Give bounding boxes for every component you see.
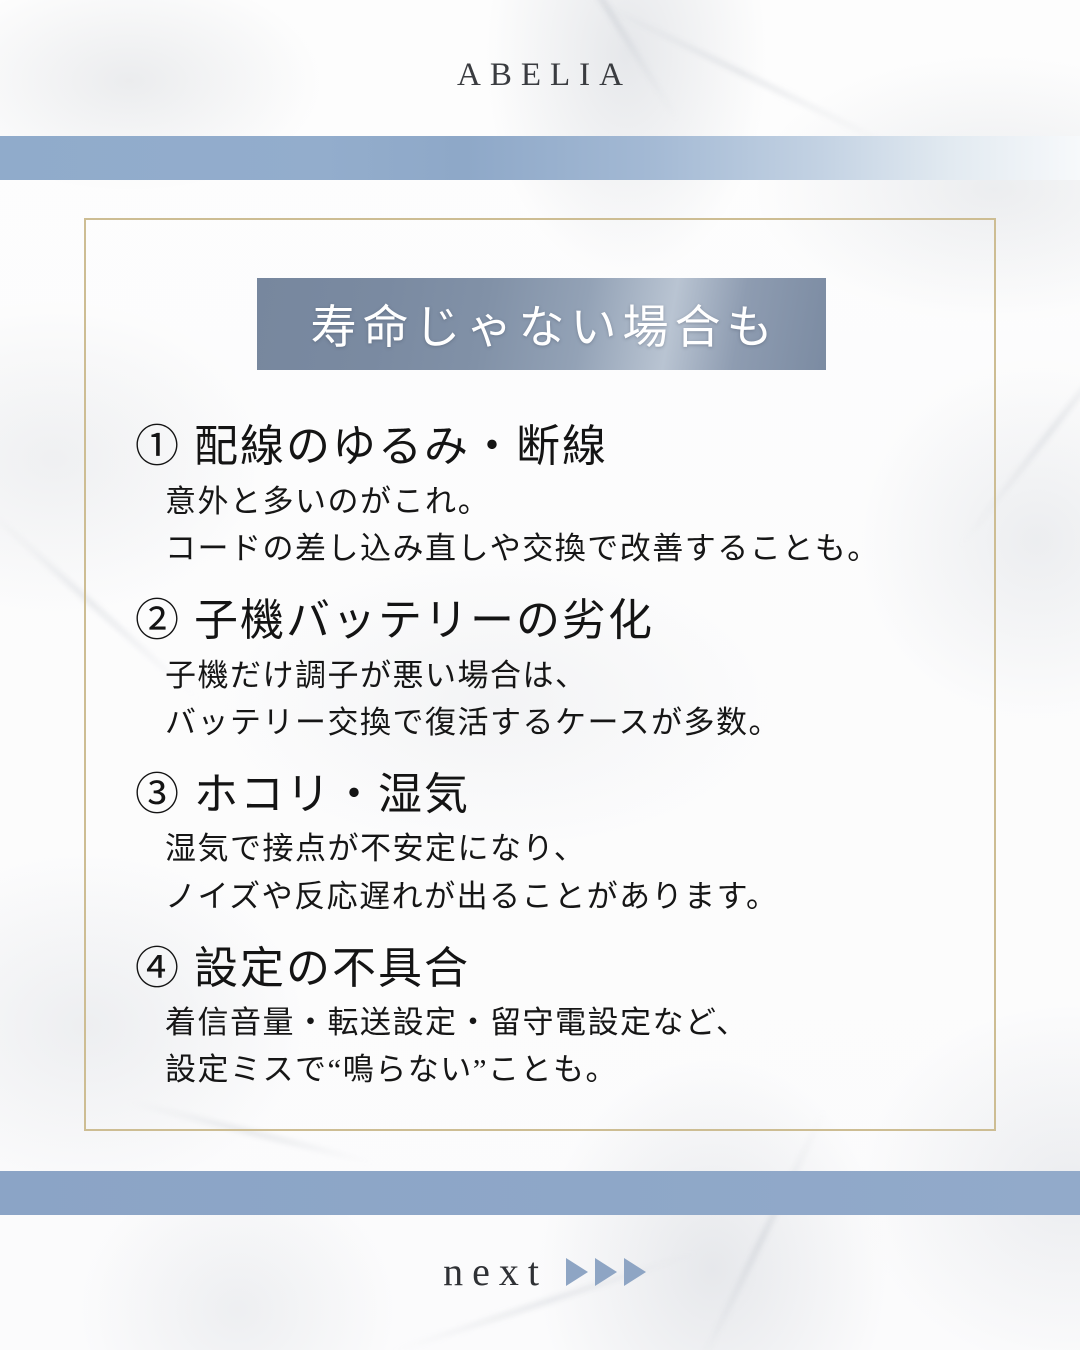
list-item-heading: ④ 設定の不具合 [135, 942, 935, 996]
next-label: next [434, 1248, 548, 1295]
list-item: ④ 設定の不具合 着信音量・転送設定・留守電設定など、 設定ミスで“鳴らない”こ… [135, 942, 935, 1094]
list-item-body: 着信音量・転送設定・留守電設定など、 設定ミスで“鳴らない”ことも。 [165, 999, 935, 1093]
list-item: ① 配線のゆるみ・断線 意外と多いのがこれ。 コードの差し込み直しや交換で改善す… [135, 420, 935, 572]
triangle-right-icon [624, 1258, 646, 1286]
headline-text: 寿命じゃない場合も [305, 291, 779, 357]
headline-banner: 寿命じゃない場合も [257, 278, 826, 370]
list-item-heading: ③ ホコリ・湿気 [135, 768, 935, 822]
slide-canvas: ABELIA 寿命じゃない場合も ① 配線のゆるみ・断線 意外と多いのがこれ。 … [0, 0, 1080, 1350]
bottom-accent-band [0, 1171, 1080, 1215]
triangle-right-icon [566, 1258, 588, 1286]
list-item-body-line: コードの差し込み直しや交換で改善することも。 [165, 525, 935, 572]
list-item-heading: ① 配線のゆるみ・断線 [135, 420, 935, 474]
list-item: ② 子機バッテリーの劣化 子機だけ調子が悪い場合は、 バッテリー交換で復活するケ… [135, 594, 935, 746]
reason-list: ① 配線のゆるみ・断線 意外と多いのがこれ。 コードの差し込み直しや交換で改善す… [135, 420, 935, 1094]
list-item-body-line: 着信音量・転送設定・留守電設定など、 [165, 999, 935, 1046]
list-item-body-line: 設定ミスで“鳴らない”ことも。 [165, 1046, 935, 1093]
next-arrows [566, 1258, 646, 1286]
list-item-body-line: バッテリー交換で復活するケースが多数。 [165, 699, 935, 746]
top-accent-band [0, 136, 1080, 180]
list-item-body: 子機だけ調子が悪い場合は、 バッテリー交換で復活するケースが多数。 [165, 652, 935, 746]
list-item: ③ ホコリ・湿気 湿気で接点が不安定になり、 ノイズや反応遅れが出ることがありま… [135, 768, 935, 920]
list-item-body-line: 子機だけ調子が悪い場合は、 [165, 652, 935, 699]
brand-title: ABELIA [0, 57, 1080, 94]
list-item-body: 湿気で接点が不安定になり、 ノイズや反応遅れが出ることがあります。 [165, 825, 935, 919]
list-item-body: 意外と多いのがこれ。 コードの差し込み直しや交換で改善することも。 [165, 478, 935, 572]
triangle-right-icon [595, 1258, 617, 1286]
list-item-heading: ② 子機バッテリーの劣化 [135, 594, 935, 648]
list-item-body-line: ノイズや反応遅れが出ることがあります。 [165, 873, 935, 920]
next-indicator[interactable]: next [0, 1248, 1080, 1295]
list-item-body-line: 湿気で接点が不安定になり、 [165, 825, 935, 872]
list-item-body-line: 意外と多いのがこれ。 [165, 478, 935, 525]
